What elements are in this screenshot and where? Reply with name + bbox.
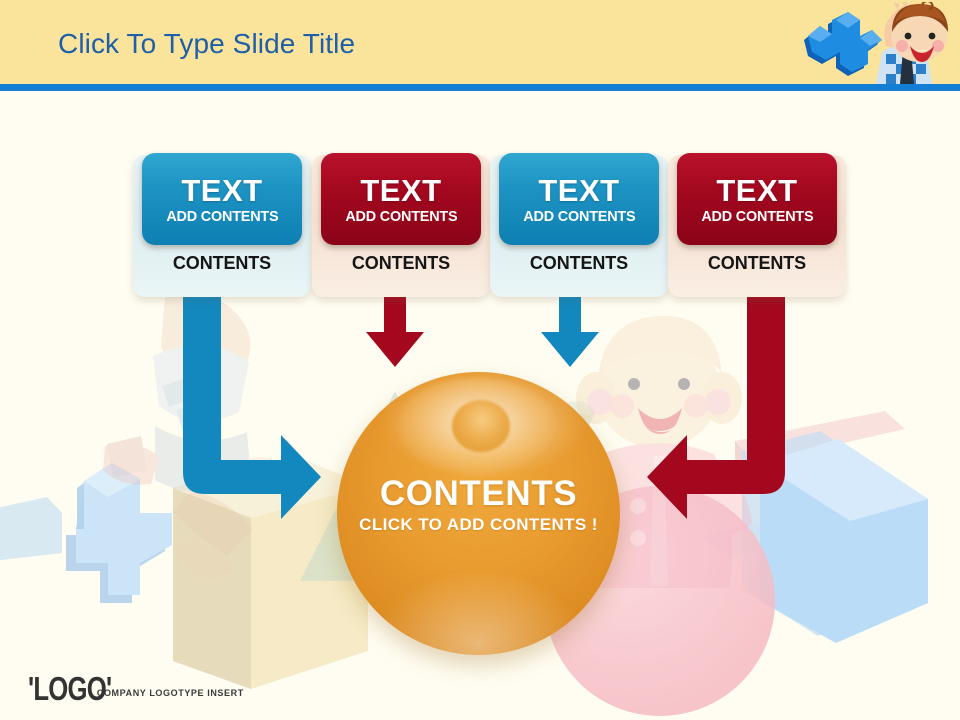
slide-canvas: CONTENTS CLICK TO ADD CONTENTS ! TEXT AD… (0, 0, 960, 720)
elbow-arrow-down-left (640, 285, 785, 520)
sphere-text-block: CONTENTS CLICK TO ADD CONTENTS ! (337, 476, 620, 535)
straight-arrow-down-red-1 (360, 288, 430, 368)
card-header-2[interactable]: TEXT ADD CONTENTS (321, 153, 481, 245)
card-header-title-3: TEXT (538, 175, 619, 206)
sphere-title: CONTENTS (337, 476, 620, 511)
card-header-3[interactable]: TEXT ADD CONTENTS (499, 153, 659, 245)
sphere-subtitle: CLICK TO ADD CONTENTS ! (337, 515, 620, 535)
card-header-subtitle-4: ADD CONTENTS (701, 209, 813, 224)
card-header-subtitle-2: ADD CONTENTS (345, 209, 457, 224)
card-footer-label-4: CONTENTS (668, 253, 846, 274)
card-footer-label-3: CONTENTS (490, 253, 668, 274)
card-footer-label-1: CONTENTS (133, 253, 311, 274)
card-header-subtitle-3: ADD CONTENTS (523, 209, 635, 224)
card-header-1[interactable]: TEXT ADD CONTENTS (142, 153, 302, 245)
page-title[interactable]: Click To Type Slide Title (58, 28, 355, 60)
blue-plus-icon (804, 12, 882, 76)
logo-caption: COMPANY LOGOTYPE INSERT (97, 688, 244, 698)
card-header-subtitle-1: ADD CONTENTS (166, 209, 278, 224)
header-divider-rule (0, 84, 960, 91)
card-footer-label-2: CONTENTS (312, 253, 490, 274)
card-header-title-4: TEXT (716, 175, 797, 206)
logo-text: 'LOGO' (28, 672, 111, 705)
footer-logo-block: 'LOGO' COMPANY LOGOTYPE INSERT (28, 668, 244, 708)
card-header-title-1: TEXT (181, 175, 262, 206)
straight-arrow-down-blue-2 (535, 288, 605, 368)
waving-boy-icon (782, 2, 952, 84)
card-header-4[interactable]: TEXT ADD CONTENTS (677, 153, 837, 245)
center-contents-sphere[interactable]: CONTENTS CLICK TO ADD CONTENTS ! (337, 372, 620, 655)
elbow-arrow-down-right (183, 285, 323, 520)
card-header-title-2: TEXT (360, 175, 441, 206)
sphere-nub-highlight (452, 400, 510, 452)
